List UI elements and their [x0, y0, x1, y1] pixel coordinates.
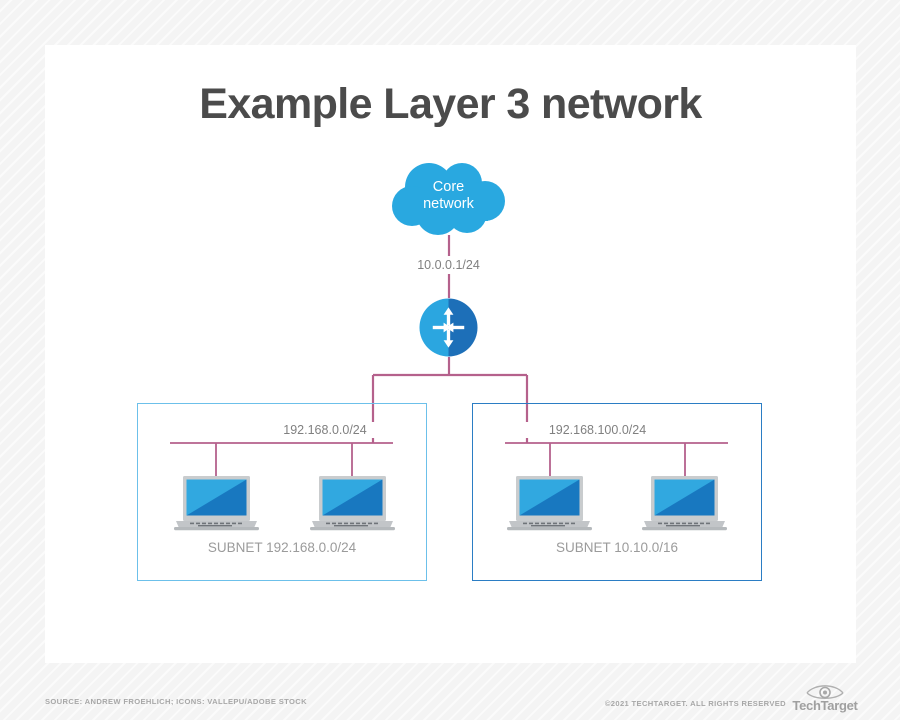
core-network-cloud[interactable]: Core network [392, 163, 505, 236]
router-icon [419, 298, 478, 357]
laptop-right-1[interactable] [507, 474, 592, 532]
laptop-right-2[interactable] [642, 474, 727, 532]
subnet-right-address-label: 192.168.100.0/24 [515, 422, 680, 438]
router-node[interactable] [419, 298, 478, 357]
laptop-icon [310, 474, 395, 532]
laptop-icon [507, 474, 592, 532]
laptop-icon [642, 474, 727, 532]
network-diagram: Core network 10.0.0.1/24 [45, 45, 856, 663]
cloud-label: Core network [392, 179, 505, 213]
source-credit: SOURCE: ANDREW FROEHLICH; ICONS: VALLEPU… [45, 697, 307, 706]
subnet-left-address-label: 192.168.0.0/24 [245, 422, 405, 438]
eye-icon [805, 682, 845, 699]
subnet-left-caption: SUBNET 192.168.0.0/24 [137, 540, 427, 555]
laptop-left-2[interactable] [310, 474, 395, 532]
subnet-right-caption: SUBNET 10.10.0/16 [472, 540, 762, 555]
diagram-canvas: Example Layer 3 network [0, 0, 900, 720]
cloud-label-line1: Core [392, 179, 505, 196]
copyright-notice: ©2021 TECHTARGET. ALL RIGHTS RESERVED [605, 699, 786, 712]
laptop-left-1[interactable] [174, 474, 259, 532]
uplink-address-label: 10.0.0.1/24 [375, 256, 522, 274]
cloud-label-line2: network [392, 196, 505, 213]
content-card: Example Layer 3 network [45, 45, 856, 663]
footer-right-group: ©2021 TECHTARGET. ALL RIGHTS RESERVED Te… [605, 676, 856, 712]
laptop-icon [174, 474, 259, 532]
techtarget-logo: TechTarget [794, 682, 856, 712]
techtarget-wordmark: TechTarget [792, 699, 857, 712]
